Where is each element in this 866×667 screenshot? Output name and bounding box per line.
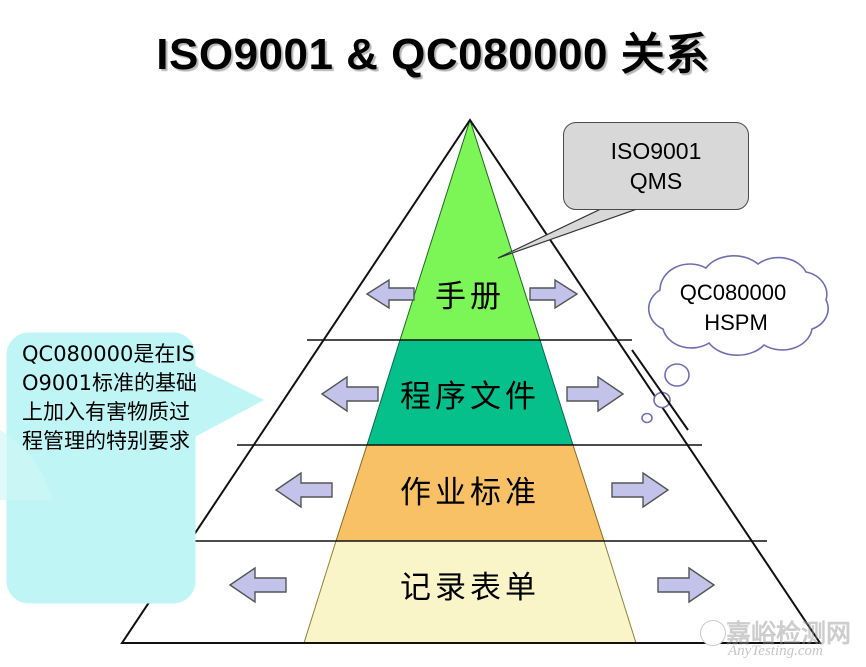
qc-callout-pointer xyxy=(188,363,263,440)
arrow-right-level-1 xyxy=(530,280,577,308)
iso-callout-pointer xyxy=(498,208,640,258)
arrow-left-level-3 xyxy=(276,473,332,507)
cloud-bubble-large xyxy=(665,364,689,386)
cloud-body xyxy=(649,256,828,355)
slide-canvas: ISO9001 & QC080000 关系 xyxy=(0,0,866,667)
cloud-callout-shape xyxy=(642,256,828,423)
arrow-left-level-4 xyxy=(230,568,286,602)
iso-callout: ISO9001 QMS xyxy=(563,122,749,210)
cloud-bubble-small xyxy=(642,414,652,423)
diagram-stage xyxy=(0,0,866,667)
arrow-right-level-2 xyxy=(567,377,623,411)
arrow-left-level-2 xyxy=(322,377,378,411)
arrow-right-level-3 xyxy=(612,473,668,507)
pyramid-layer-4-shape xyxy=(304,541,636,643)
pyramid-layer-3-shape xyxy=(336,445,604,541)
pyramid-layer-1-shape xyxy=(400,120,540,340)
arrow-right-level-4 xyxy=(658,568,714,602)
arrow-left-level-1 xyxy=(367,280,414,308)
qc-callout-shape xyxy=(7,333,263,603)
iso-callout-line-2: QMS xyxy=(630,166,682,196)
iso-callout-line-1: ISO9001 xyxy=(611,136,702,166)
cloud-pointer-line xyxy=(632,350,688,430)
pyramid-layer-2-shape xyxy=(367,340,573,445)
